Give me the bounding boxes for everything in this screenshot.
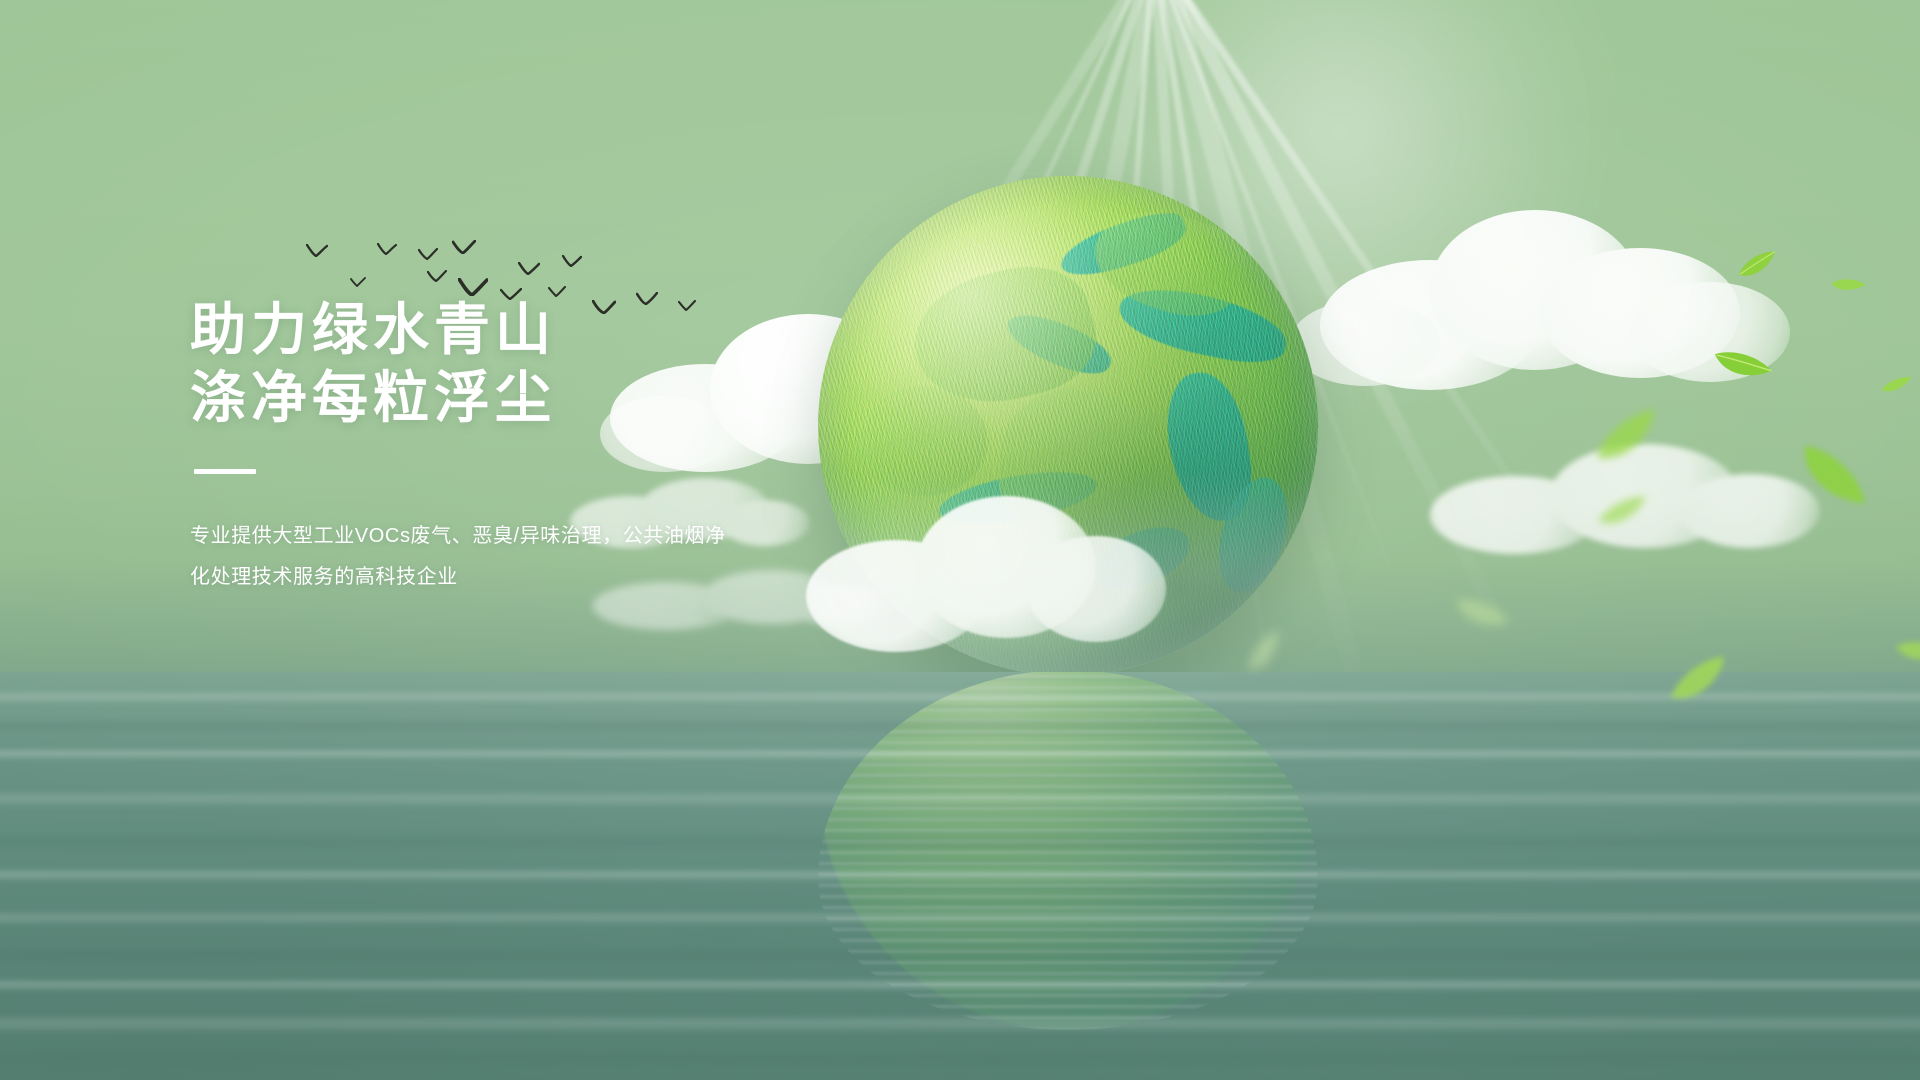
bird-icon-10 <box>562 255 582 267</box>
water-ripple-5 <box>0 832 1920 852</box>
leaf-icon-6 <box>1586 404 1673 474</box>
leaf-icon-7 <box>1593 493 1654 533</box>
leaf-icon-3 <box>1879 374 1916 397</box>
bird-icon-14 <box>350 277 366 287</box>
water-ripple-3 <box>0 748 1920 760</box>
bird-icon-1 <box>306 244 328 257</box>
leaf-icon-10 <box>1447 586 1514 644</box>
subtitle-line-1: 专业提供大型工业VOCs废气、恶臭/异味治理，公共油烟净 <box>190 516 726 557</box>
subtitle-line-2: 化处理技术服务的高科技企业 <box>190 557 726 598</box>
globe-sphere <box>818 176 1318 676</box>
water-ripple-2 <box>0 718 1920 734</box>
leaf-icon-5 <box>1787 430 1872 526</box>
bird-icon-2 <box>377 243 397 255</box>
hero-banner: 助力绿水青山 涤净每粒浮尘 专业提供大型工业VOCs废气、恶臭/异味治理，公共油… <box>0 0 1920 1080</box>
cloud-right-top <box>1290 190 1810 400</box>
hero-copy: 助力绿水青山 涤净每粒浮尘 专业提供大型工业VOCs废气、恶臭/异味治理，公共油… <box>190 296 726 598</box>
headline-divider <box>194 469 256 474</box>
water-ripple-8 <box>0 946 1920 964</box>
headline-line-2: 涤净每粒浮尘 <box>190 364 726 432</box>
water-ripple-10 <box>0 1014 1920 1034</box>
water-ripple-6 <box>0 868 1920 882</box>
leaf-icon-2 <box>1829 274 1868 297</box>
cloud-wisp-5 <box>1430 430 1810 570</box>
water-surface <box>0 672 1920 1080</box>
bird-icon-4 <box>452 240 476 254</box>
subtitle: 专业提供大型工业VOCs废气、恶臭/异味治理，公共油烟净 化处理技术服务的高科技… <box>190 516 726 598</box>
leaf-icon-1 <box>1733 247 1784 285</box>
water-ripple-7 <box>0 910 1920 926</box>
bird-icon-3 <box>418 248 438 260</box>
water-ripple-1 <box>0 690 1920 704</box>
leaf-icon-9 <box>1890 632 1920 673</box>
earth-globe <box>818 176 1318 676</box>
leaf-icon-4 <box>1707 340 1776 394</box>
water-ripple-4 <box>0 790 1920 808</box>
globe-rim-light <box>818 176 1318 676</box>
water-ripple-9 <box>0 978 1920 992</box>
bird-icon-5 <box>427 270 447 282</box>
headline-line-1: 助力绿水青山 <box>190 296 726 364</box>
bird-icon-8 <box>518 262 540 275</box>
water-ripple-11 <box>0 1050 1920 1066</box>
bird-icon-6 <box>458 278 488 296</box>
